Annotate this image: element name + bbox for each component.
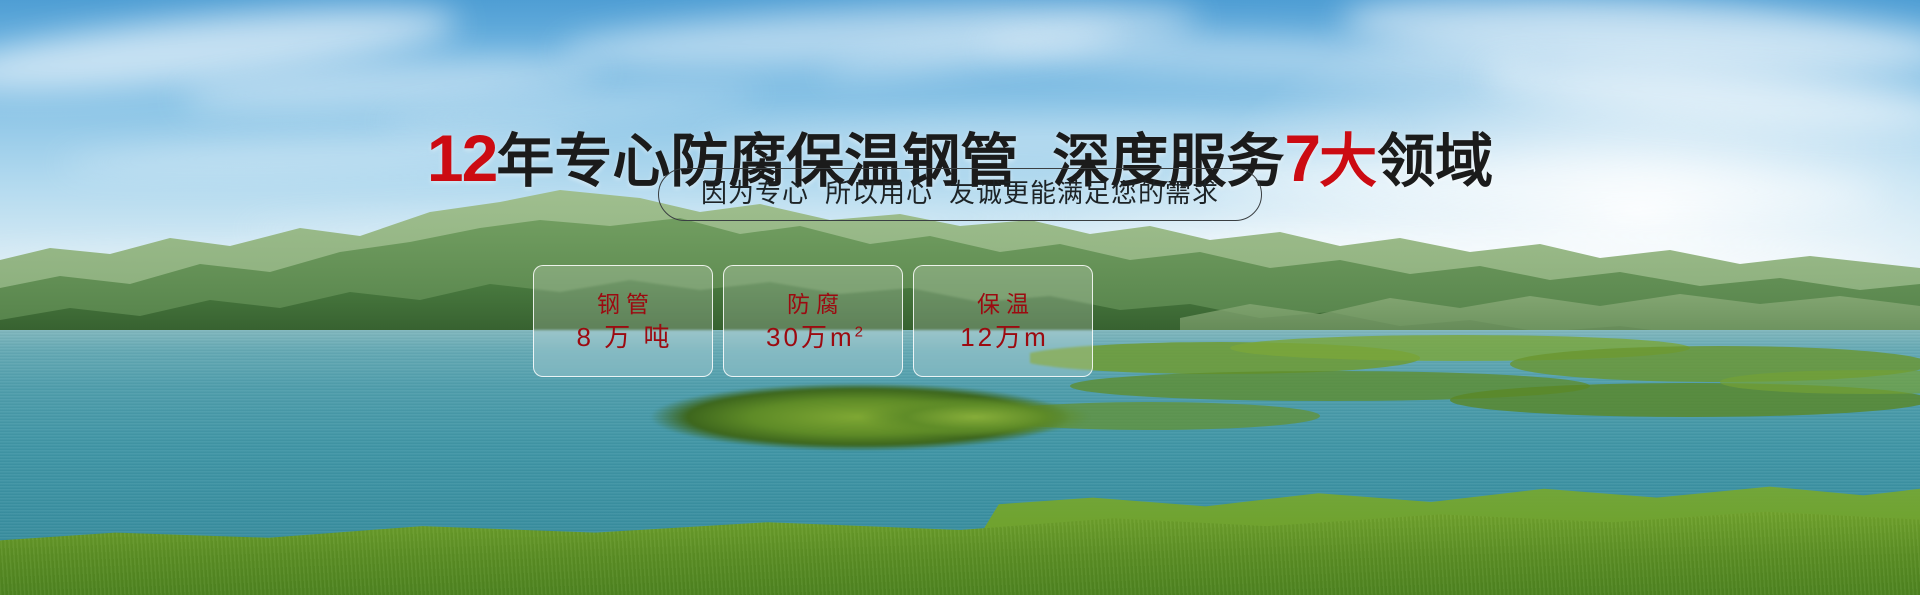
stat-card-title: 保温 — [971, 293, 1035, 316]
hero-banner: 12年专心防腐保温钢管深度服务7大领域 因为专心所以用心友诚更能满足您的需求 钢… — [0, 0, 1920, 595]
banner-content: 12年专心防腐保温钢管深度服务7大领域 因为专心所以用心友诚更能满足您的需求 钢… — [0, 0, 1920, 595]
tagline-pill: 因为专心所以用心友诚更能满足您的需求 — [658, 168, 1262, 221]
stat-card-steel-pipe: 钢管 8 万 吨 — [533, 265, 713, 377]
stat-card-title: 防腐 — [781, 293, 845, 316]
stat-card-group: 钢管 8 万 吨 防腐 30万m2 保温 12万m — [533, 265, 1093, 377]
tagline-segment-3: 友诚更能满足您的需求 — [949, 178, 1219, 208]
stat-card-insulation: 保温 12万m — [913, 265, 1093, 377]
stat-card-value-text: 12万m — [960, 322, 1049, 352]
stat-card-value: 30万m2 — [763, 324, 863, 350]
tagline-segment-1: 因为专心 — [701, 178, 809, 208]
stat-card-title: 钢管 — [591, 293, 655, 316]
tagline-segment-2: 所以用心 — [825, 178, 933, 208]
tagline-container: 因为专心所以用心友诚更能满足您的需求 — [0, 168, 1920, 221]
stat-card-value: 12万m — [957, 324, 1049, 350]
stat-card-value: 8 万 吨 — [574, 324, 673, 350]
stat-card-value-text: 8 万 吨 — [577, 322, 673, 352]
stat-card-anticorrosion: 防腐 30万m2 — [723, 265, 903, 377]
stat-card-value-superscript: 2 — [855, 323, 863, 340]
stat-card-value-text: 30万m — [766, 322, 855, 352]
